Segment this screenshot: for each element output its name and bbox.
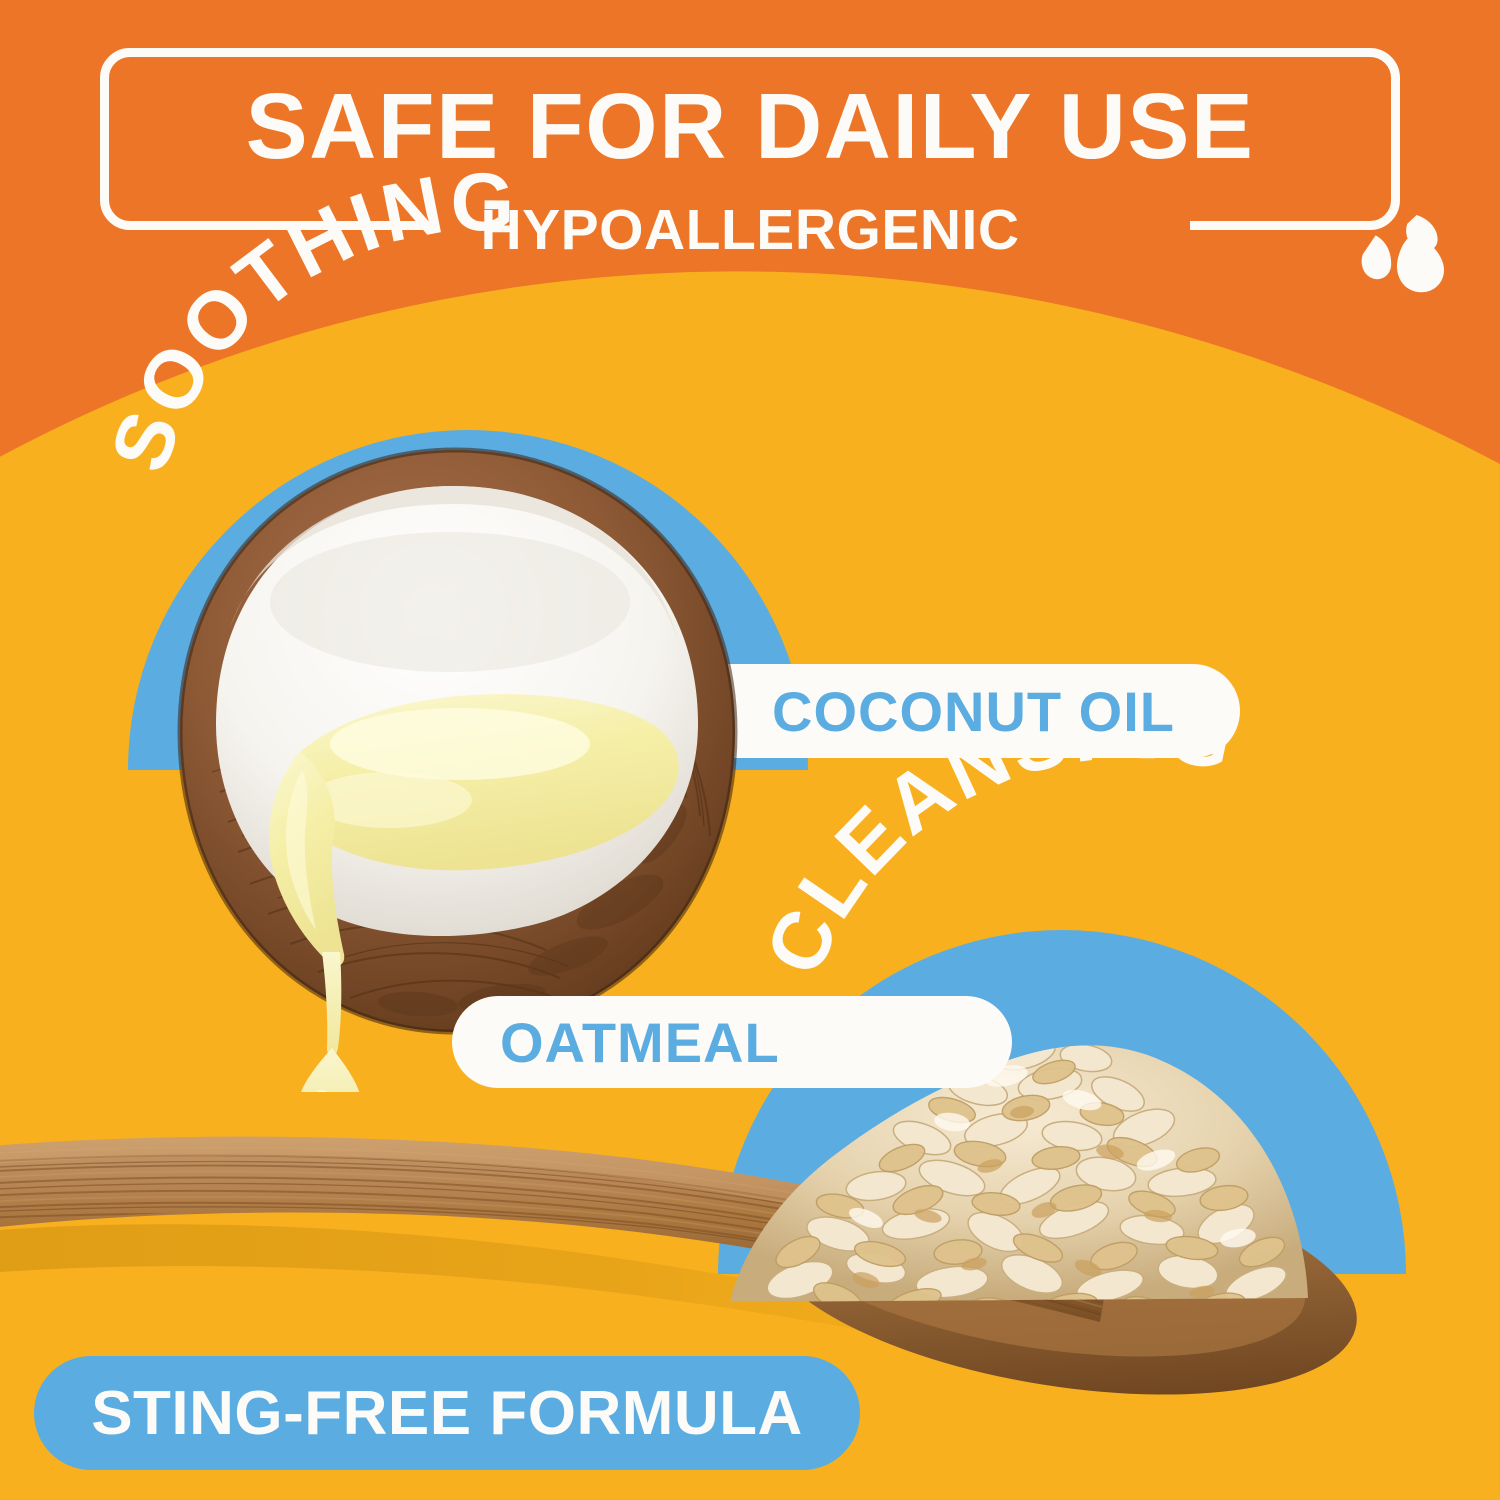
page-title: SAFE FOR DAILY USE bbox=[109, 73, 1391, 179]
sting-free-formula-label: STING-FREE FORMULA bbox=[91, 1378, 803, 1449]
product-infographic: SAFE FOR DAILY USE HYPOALLERGENIC SOOTHI… bbox=[0, 0, 1500, 1500]
header-subtitle: HYPOALLERGENIC bbox=[480, 200, 1019, 260]
oatmeal-label: OATMEAL bbox=[500, 1010, 780, 1075]
coconut-half-with-oil-image bbox=[150, 432, 770, 1092]
water-droplets-icon bbox=[1352, 208, 1462, 304]
ingredient-pill-oatmeal: OATMEAL bbox=[452, 996, 1012, 1088]
cleansing-arc-label: CLEANSING bbox=[806, 806, 1426, 996]
coconut-oil-label: COCONUT OIL bbox=[772, 679, 1175, 744]
sting-free-formula-badge: STING-FREE FORMULA bbox=[34, 1356, 860, 1470]
